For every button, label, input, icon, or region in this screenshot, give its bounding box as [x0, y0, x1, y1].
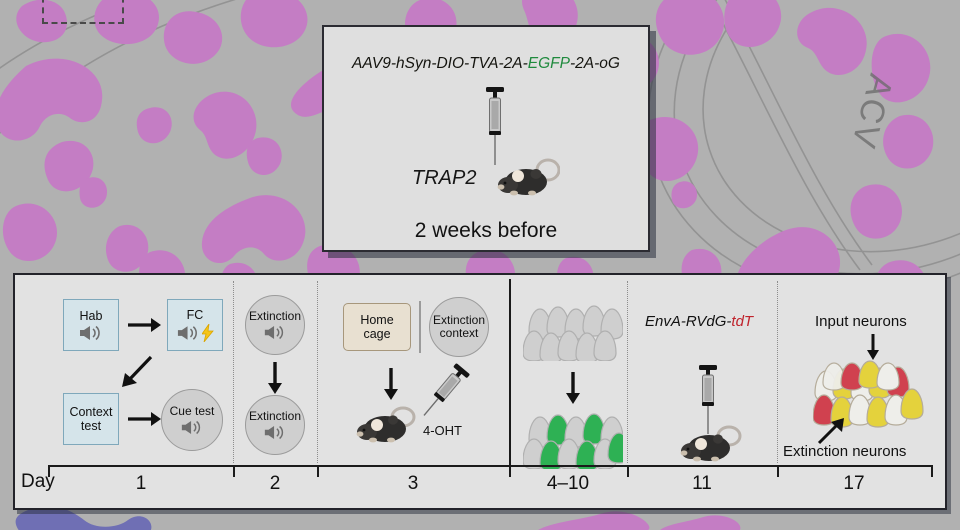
stage-label-extinction-context-line1: Extinction — [433, 314, 485, 327]
divider-day11-day17 — [777, 281, 778, 463]
stage-circle-extinction-2[interactable]: Extinction — [245, 395, 305, 455]
trap2-mouse-line-label: TRAP2 — [412, 167, 476, 190]
stage-label-extinction-2: Extinction — [249, 410, 301, 423]
speaker-icon — [263, 325, 287, 340]
rabies-construct-tdt-highlight: tdT — [731, 313, 753, 330]
arrow-down-icon — [381, 367, 401, 401]
experimental-timeline-panel: Hab FC — [13, 273, 947, 510]
axis-tick-5 — [777, 465, 779, 477]
selection-rectangle — [42, 0, 124, 24]
day-label-3: 3 — [408, 473, 419, 495]
axis-baseline — [48, 465, 933, 467]
drug-label-4oht: 4-OHT — [423, 423, 462, 438]
arrow-up-right-icon — [817, 417, 847, 445]
day-label-1: 1 — [136, 473, 147, 495]
axis-tick-1 — [233, 465, 235, 477]
construct-egfp-highlight: EGFP — [528, 55, 570, 72]
day-axis — [15, 465, 945, 487]
stage-label-context-test-line1: Context — [69, 405, 112, 419]
rabies-construct-prefix: EnvA-RVdG- — [645, 313, 731, 330]
divider-day1-day2 — [233, 281, 234, 463]
aav-construct-label: AAV9-hSyn-DIO-TVA-2A-EGFP-2A-oG — [324, 55, 648, 73]
figure-root: ACV AAV9-hSyn-DIO-TVA-2A-EGFP-2A-oG T — [0, 0, 960, 530]
stage-box-habituation[interactable]: Hab — [63, 299, 119, 351]
day-label-11: 11 — [692, 473, 712, 495]
neuron-cluster-gray — [523, 295, 623, 361]
speaker-icon — [78, 325, 104, 341]
stage-circle-extinction-1[interactable]: Extinction — [245, 295, 305, 355]
divider-day4-day11 — [627, 281, 628, 463]
stage-label-context-test-line2: test — [81, 419, 101, 433]
stage-circle-extinction-context[interactable]: Extinction context — [429, 297, 489, 357]
arrow-down-icon — [265, 361, 285, 395]
stage-box-fear-conditioning[interactable]: FC — [167, 299, 223, 351]
speaker-icon — [176, 325, 201, 341]
cage-context-separator — [419, 301, 421, 353]
axis-tick-2 — [317, 465, 319, 477]
arrow-down-icon — [863, 333, 883, 361]
mouse-icon — [496, 156, 560, 200]
lightning-bolt-icon — [202, 324, 214, 342]
stage-label-fc: FC — [187, 308, 204, 322]
speaker-icon — [263, 425, 287, 440]
mouse-icon — [355, 403, 419, 447]
mouse-icon — [679, 423, 743, 467]
stage-box-context-test[interactable]: Context test — [63, 393, 119, 445]
day-label-4-10: 4–10 — [547, 473, 589, 495]
stage-label-home-cage-line1: Home — [360, 313, 393, 327]
stage-circle-cue-test[interactable]: Cue test — [161, 389, 223, 451]
arrow-down-icon — [563, 371, 583, 405]
input-neurons-label: Input neurons — [815, 313, 907, 330]
stage-label-extinction-context-line2: context — [440, 327, 479, 340]
stage-label-home-cage-line2: cage — [363, 327, 390, 341]
stage-label-cue-test: Cue test — [170, 405, 215, 418]
construct-prefix: AAV9-hSyn-DIO-TVA-2A- — [352, 55, 528, 72]
extinction-neurons-label: Extinction neurons — [783, 443, 906, 460]
construct-suffix: -2A-oG — [570, 55, 620, 72]
neuron-cluster-green — [523, 403, 623, 469]
axis-tick-4 — [627, 465, 629, 477]
timing-label: 2 weeks before — [324, 219, 648, 243]
axis-day-word: Day — [21, 471, 55, 493]
syringe-icon — [480, 85, 510, 167]
arrow-right-icon — [127, 315, 161, 335]
stage-label-hab: Hab — [80, 309, 103, 323]
divider-day2-day3 — [317, 281, 318, 463]
injection-card: AAV9-hSyn-DIO-TVA-2A-EGFP-2A-oG TRAP2 2 … — [322, 25, 650, 252]
day-label-2: 2 — [270, 473, 281, 495]
axis-tick-end — [931, 465, 933, 477]
day-label-17: 17 — [843, 473, 864, 495]
stage-label-extinction-1: Extinction — [249, 310, 301, 323]
arrow-right-icon — [127, 409, 161, 429]
arrow-down-left-icon — [119, 355, 155, 389]
divider-day3-day4 — [509, 279, 511, 469]
stage-box-home-cage[interactable]: Home cage — [343, 303, 411, 351]
speaker-icon — [180, 420, 204, 435]
axis-tick-3 — [509, 465, 511, 477]
rabies-construct-label: EnvA-RVdG-tdT — [645, 313, 753, 330]
